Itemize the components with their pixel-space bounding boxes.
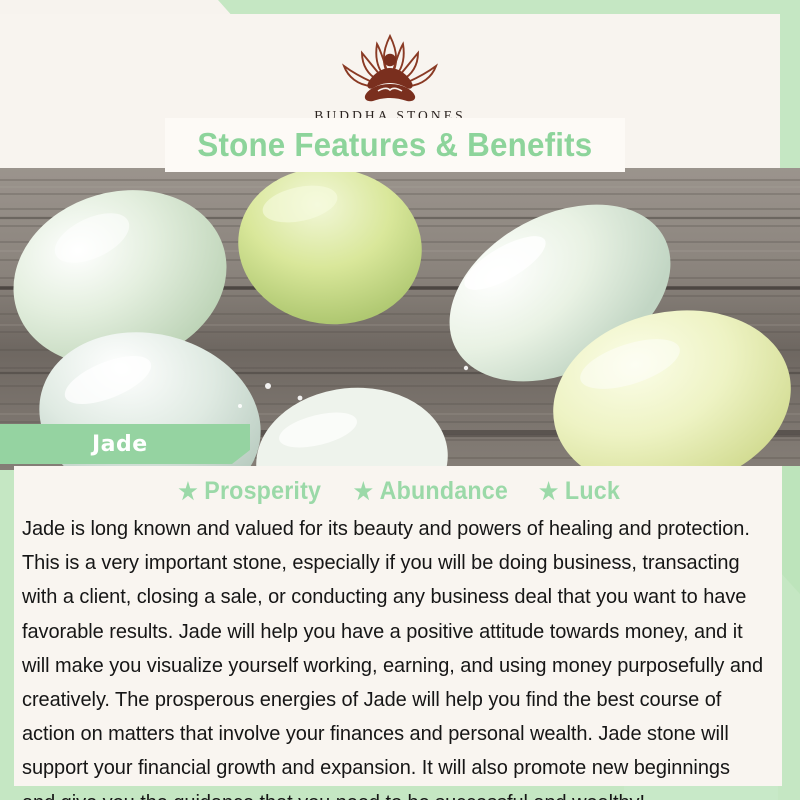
benefit-item-abundance: ★ Abundance [354, 477, 508, 506]
benefit-label: Prosperity [204, 477, 321, 506]
lotus-meditation-icon [315, 30, 465, 104]
page-title: Stone Features & Benefits [198, 126, 593, 164]
stone-description: Jade is long known and valued for its be… [22, 512, 765, 800]
benefit-label: Abundance [380, 477, 508, 506]
benefit-label: Luck [565, 477, 620, 506]
stone-name-label: Jade [92, 432, 148, 457]
decoration-right-tab [780, 466, 800, 594]
content-panel: ★ Prosperity ★ Abundance ★ Luck Jade is … [14, 466, 782, 786]
star-icon: ★ [178, 480, 197, 503]
title-banner: Stone Features & Benefits [165, 118, 625, 172]
brand-logo: BUDDHA STONES [0, 30, 780, 124]
stone-name-badge: Jade [0, 424, 250, 464]
star-icon: ★ [539, 480, 558, 503]
star-icon: ★ [354, 480, 373, 503]
benefit-item-prosperity: ★ Prosperity [178, 477, 321, 506]
benefit-item-luck: ★ Luck [539, 477, 620, 506]
benefits-row: ★ Prosperity ★ Abundance ★ Luck [14, 474, 782, 508]
poster-root: BUDDHA STONES Stone Features & Benefits [0, 0, 800, 800]
